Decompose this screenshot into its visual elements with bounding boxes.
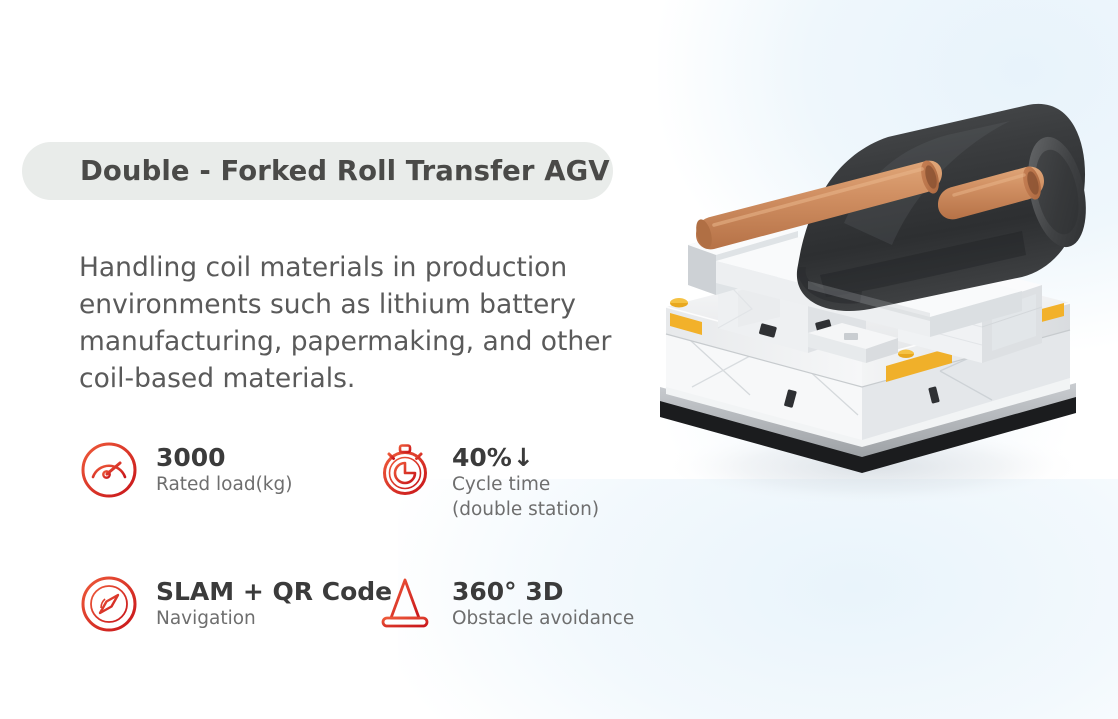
feature-value-number: 40% — [452, 443, 512, 472]
gauge-icon — [79, 440, 139, 500]
description-text: Handling coil materials in production en… — [79, 249, 649, 397]
feature-label: Obstacle avoidance — [452, 606, 634, 631]
feature-value: 40%↓ — [452, 443, 599, 472]
stopwatch-icon — [375, 440, 435, 500]
feature-grid: 3000 Rated load(kg) — [79, 440, 659, 686]
feature-text: 360° 3D Obstacle avoidance — [452, 574, 634, 631]
feature-label-secondary: (double station) — [452, 497, 599, 522]
feature-text: 3000 Rated load(kg) — [156, 440, 292, 497]
feature-value: 3000 — [156, 443, 292, 472]
feature-item-rated-load: 3000 Rated load(kg) — [79, 440, 375, 522]
agv-product-image: LEAD 贝导 LOGISTICS — [630, 95, 1118, 515]
feature-label: Navigation — [156, 606, 392, 631]
feature-row-1: 3000 Rated load(kg) — [79, 440, 659, 522]
feature-label: Cycle time — [452, 472, 599, 497]
feature-value-number: SLAM + QR Code — [156, 577, 392, 606]
page-title: Double - Forked Roll Transfer AGV — [80, 155, 610, 187]
feature-item-obstacle-avoidance: 360° 3D Obstacle avoidance — [375, 574, 655, 634]
feature-item-navigation: SLAM + QR Code Navigation — [79, 574, 375, 634]
product-slide: Double - Forked Roll Transfer AGV Handli… — [0, 0, 1118, 719]
feature-item-cycle-time: 40%↓ Cycle time (double station) — [375, 440, 655, 522]
feature-value: 360° 3D — [452, 577, 634, 606]
title-pill: Double - Forked Roll Transfer AGV — [22, 142, 613, 200]
feature-row-2: SLAM + QR Code Navigation — [79, 574, 659, 634]
feature-label: Rated load(kg) — [156, 472, 292, 497]
compass-icon — [79, 574, 139, 634]
feature-value-number: 3000 — [156, 443, 226, 472]
feature-text: SLAM + QR Code Navigation — [156, 574, 392, 631]
feature-text: 40%↓ Cycle time (double station) — [452, 440, 599, 522]
traffic-cone-icon — [375, 574, 435, 634]
down-arrow-icon: ↓ — [513, 443, 534, 472]
feature-value: SLAM + QR Code — [156, 577, 392, 606]
feature-value-number: 360° 3D — [452, 577, 564, 606]
